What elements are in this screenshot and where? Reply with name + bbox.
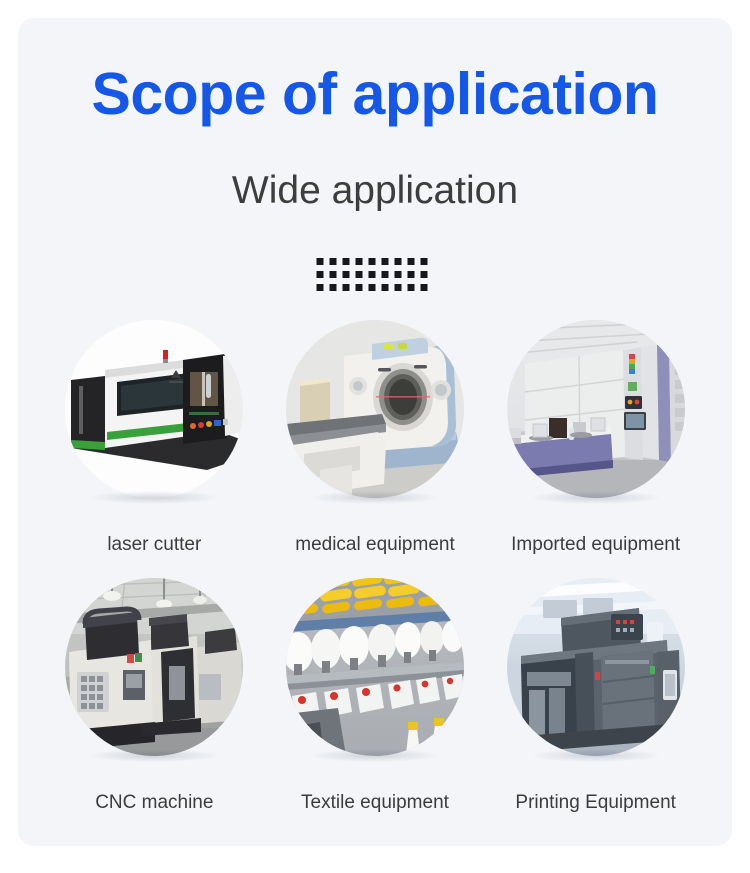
thumb-medical-equipment — [286, 320, 464, 498]
dot — [317, 258, 324, 265]
thumb-cnc-machine — [65, 578, 243, 756]
item-caption: Textile equipment — [301, 792, 449, 814]
item-caption: Imported equipment — [511, 534, 680, 556]
dot — [408, 258, 415, 265]
dot — [330, 258, 337, 265]
dot — [395, 258, 402, 265]
photo-imported-equipment — [507, 320, 685, 498]
dot-grid-ornament — [317, 258, 434, 297]
dot — [382, 258, 389, 265]
page-subtitle: Wide application — [18, 170, 732, 213]
application-item-imported-equipment[interactable]: Imported equipment — [485, 320, 706, 578]
dot — [356, 284, 363, 291]
dot — [317, 271, 324, 278]
dot — [395, 271, 402, 278]
item-caption: laser cutter — [107, 534, 201, 556]
thumb-textile-equipment — [286, 578, 464, 756]
thumb-imported-equipment — [507, 320, 685, 498]
photo-textile-equipment — [286, 578, 464, 756]
application-item-medical-equipment[interactable]: medical equipment — [265, 320, 486, 578]
page-title: Scope of application — [18, 64, 732, 126]
thumb-wrap-imported-equipment — [507, 320, 685, 498]
thumb-wrap-textile-equipment — [286, 578, 464, 756]
dot — [356, 258, 363, 265]
dot — [408, 271, 415, 278]
dot — [395, 284, 402, 291]
application-item-textile-equipment[interactable]: Textile equipment — [265, 578, 486, 836]
dot — [421, 258, 428, 265]
application-scope-card: Scope of application Wide application — [18, 18, 732, 846]
dot — [382, 271, 389, 278]
dot — [369, 284, 376, 291]
thumb-wrap-medical-equipment — [286, 320, 464, 498]
thumb-wrap-laser-cutter — [65, 320, 243, 498]
dot — [382, 284, 389, 291]
thumb-wrap-printing-equipment — [507, 578, 685, 756]
dot — [369, 271, 376, 278]
application-item-cnc-machine[interactable]: CNC machine — [44, 578, 265, 836]
thumb-printing-equipment — [507, 578, 685, 756]
dot — [330, 284, 337, 291]
photo-medical-equipment — [286, 320, 464, 498]
item-caption: medical equipment — [295, 534, 454, 556]
photo-cnc-machine — [65, 578, 243, 756]
dot — [369, 258, 376, 265]
dot — [408, 284, 415, 291]
dot — [343, 284, 350, 291]
item-caption: Printing Equipment — [515, 792, 676, 814]
application-items-grid: laser cutter — [44, 320, 706, 836]
dot — [421, 271, 428, 278]
photo-printing-equipment — [507, 578, 685, 756]
dot — [330, 271, 337, 278]
dot — [343, 258, 350, 265]
dot — [317, 284, 324, 291]
thumb-laser-cutter — [65, 320, 243, 498]
application-item-printing-equipment[interactable]: Printing Equipment — [485, 578, 706, 836]
dot — [356, 271, 363, 278]
application-item-laser-cutter[interactable]: laser cutter — [44, 320, 265, 578]
dot — [343, 271, 350, 278]
dot — [421, 284, 428, 291]
item-caption: CNC machine — [95, 792, 213, 814]
thumb-wrap-cnc-machine — [65, 578, 243, 756]
photo-laser-cutter — [65, 320, 243, 498]
